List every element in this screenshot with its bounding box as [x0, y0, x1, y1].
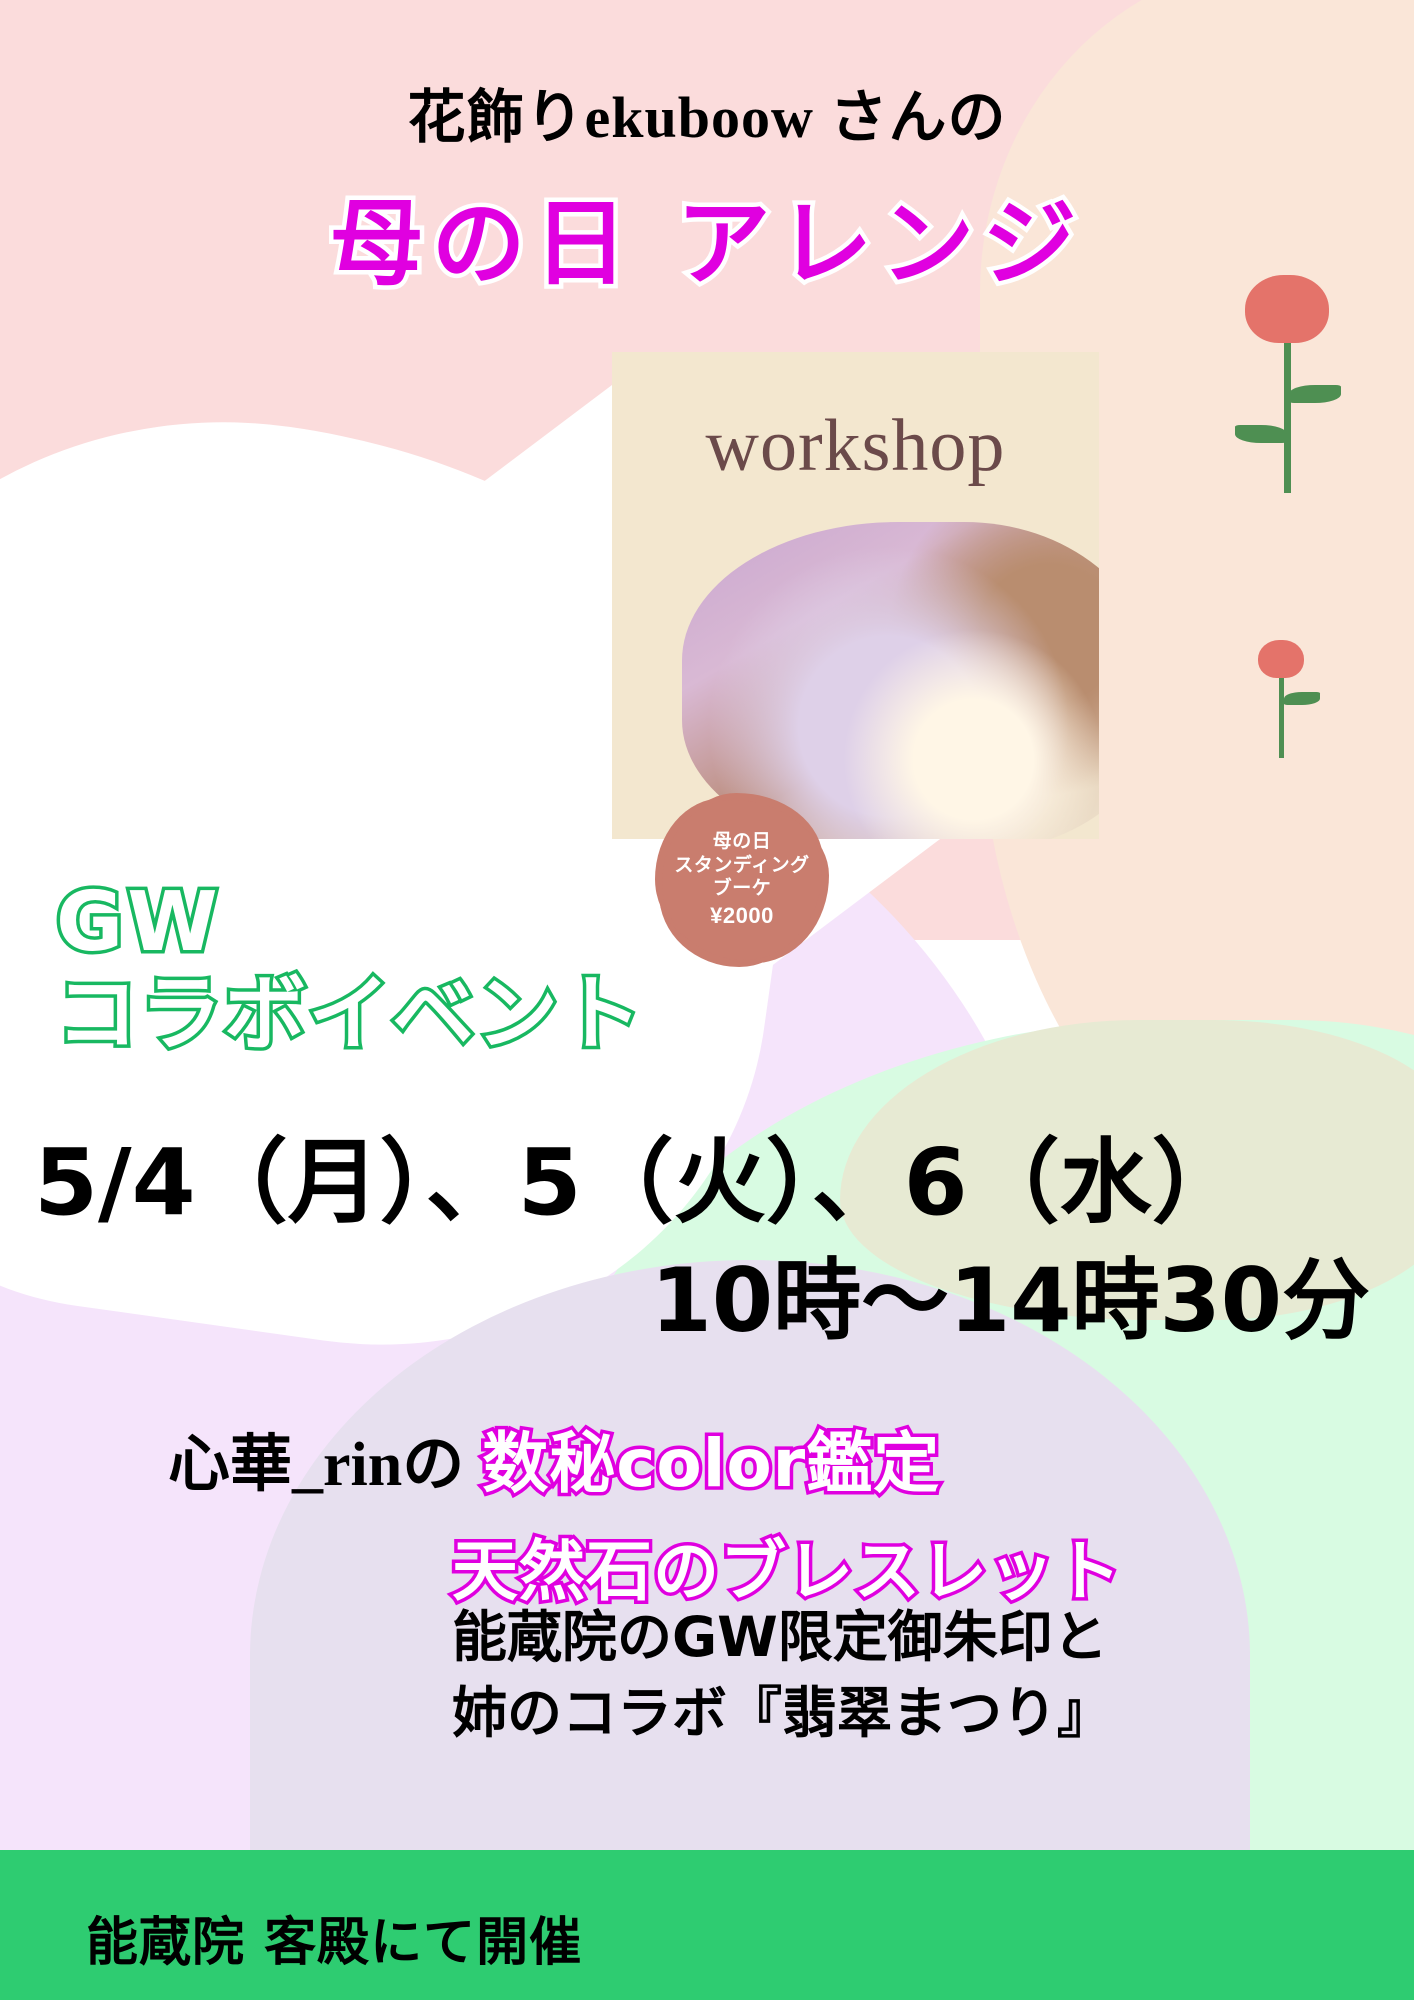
- carnation-stem-icon: [1284, 343, 1291, 493]
- event-dates: 5/4（月）、5（火）、6（水）: [34, 1108, 1244, 1241]
- badge-line-3: ブーケ: [713, 877, 772, 900]
- organizer-line: 花飾りekuboow さんの: [0, 70, 1414, 154]
- gw-headline: GW コラボイベント: [56, 880, 644, 1058]
- event-time: 10時～14時30分: [0, 1230, 1390, 1357]
- poster-header: 花飾りekuboow さんの 母の日 アレンジ: [0, 0, 1414, 304]
- page-title: 母の日 アレンジ: [0, 168, 1414, 304]
- carnation-leaf-icon: [1289, 385, 1341, 403]
- gw-line-1: GW: [56, 880, 644, 966]
- collab-note: 能蔵院のGW限定御朱印と 姉のコラボ『翡翠まつり』: [452, 1600, 1112, 1752]
- rin-service-row: 心華_rinの 数秘color鑑定: [0, 1410, 1414, 1506]
- bouquet-photo: [682, 522, 1099, 839]
- workshop-label: workshop: [706, 404, 1006, 489]
- badge-line-2: スタンディング: [674, 854, 809, 877]
- collab-note-line-1: 能蔵院のGW限定御朱印と: [452, 1600, 1112, 1676]
- collab-note-line-2: 姉のコラボ『翡翠まつり』: [452, 1676, 1112, 1752]
- gw-line-2: コラボイベント: [56, 972, 644, 1058]
- carnation-head-icon: [1258, 640, 1304, 678]
- rin-service-numerology: 数秘color鑑定: [482, 1410, 940, 1506]
- venue-footer: 能蔵院 客殿にて開催: [0, 1850, 1414, 2000]
- carnation-bud-icon: [1258, 640, 1304, 758]
- badge-price: ¥2000: [710, 903, 774, 930]
- rin-provider-name: 心華_rinの: [168, 1413, 464, 1503]
- poster-root: 花飾りekuboow さんの 母の日 アレンジ workshop: [0, 0, 1414, 2000]
- carnation-head-icon: [1245, 275, 1329, 343]
- badge-line-1: 母の日: [713, 830, 772, 853]
- carnation-flower-icon: [1245, 275, 1329, 493]
- workshop-photo-card: workshop: [612, 352, 1099, 839]
- carnation-stem-icon: [1279, 678, 1284, 758]
- carnation-leaf-icon: [1235, 425, 1287, 443]
- venue-text: 能蔵院 客殿にて開催: [86, 1900, 582, 1975]
- carnation-leaf-icon: [1284, 692, 1320, 705]
